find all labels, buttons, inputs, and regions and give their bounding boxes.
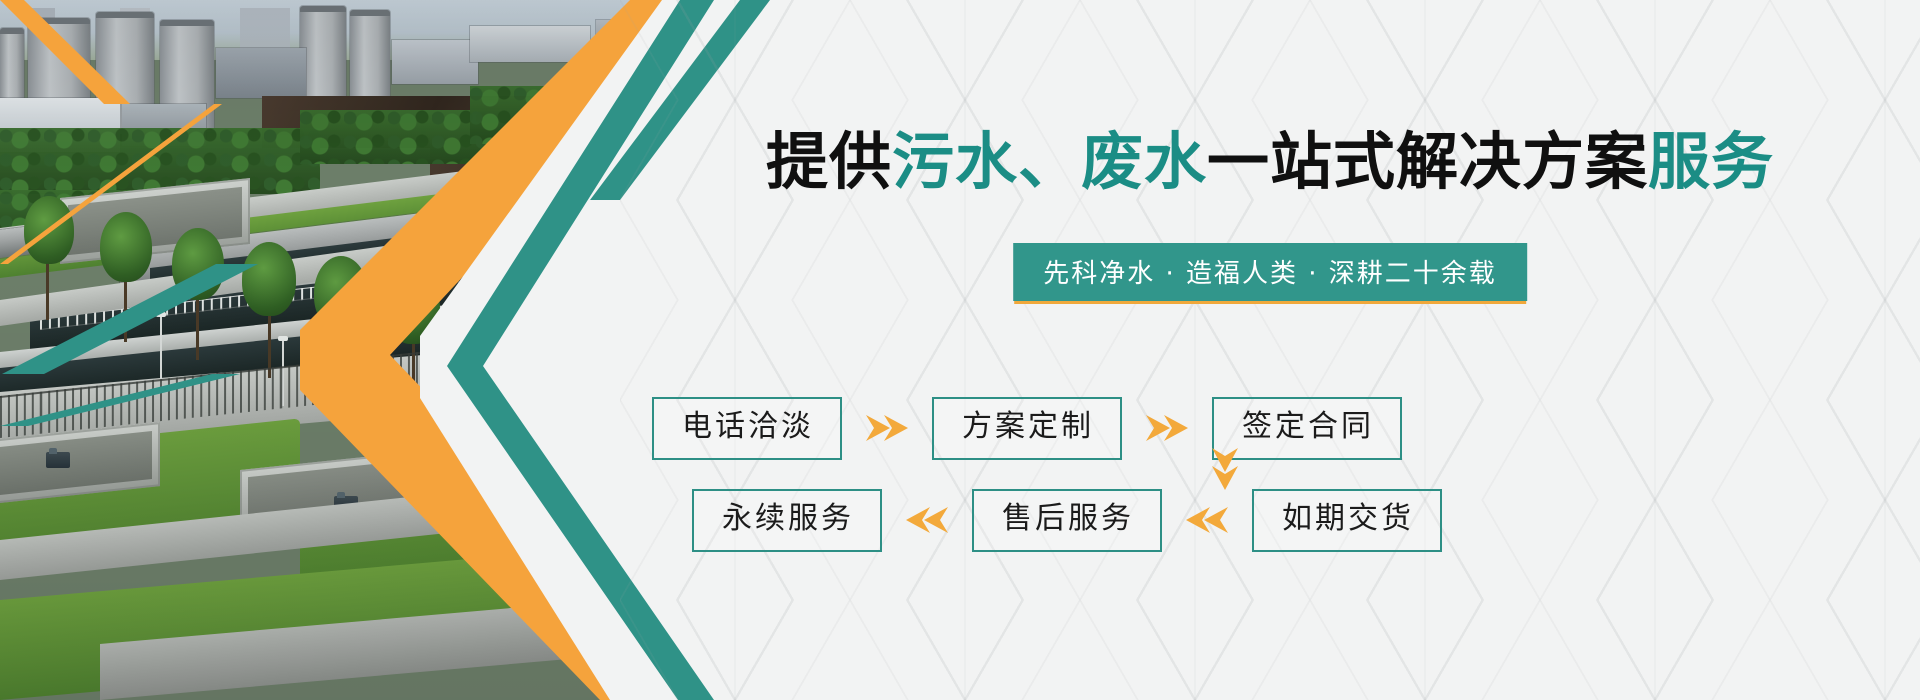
process-step-continuous-service[interactable]: 永续服务 — [692, 489, 882, 552]
process-step-on-time-delivery[interactable]: 如期交货 — [1252, 489, 1442, 552]
arrow-left-icon — [904, 503, 950, 537]
headline-segment-3: 一站式解决方案 — [1207, 125, 1648, 198]
photo-building — [216, 48, 306, 98]
arrow-right-icon — [1144, 411, 1190, 445]
banner-content: 提供污水、废水一站式解决方案服务 先科净水 · 造福人类 · 深耕二十余载 电话… — [620, 0, 1920, 700]
banner-subtitle-ribbon: 先科净水 · 造福人类 · 深耕二十余载 — [1013, 243, 1527, 301]
process-step-plan-customization[interactable]: 方案定制 — [932, 397, 1122, 460]
process-step-after-sales-service[interactable]: 售后服务 — [972, 489, 1162, 552]
arrow-down-icon — [1208, 446, 1242, 492]
photo-tree-belt — [0, 128, 320, 194]
arrow-right-icon — [864, 411, 910, 445]
process-flow-row-top: 电话洽淡 方案定制 签定合同 — [652, 397, 1402, 460]
promo-banner: 提供污水、废水一站式解决方案服务 先科净水 · 造福人类 · 深耕二十余载 电话… — [0, 0, 1920, 700]
photo-building — [470, 26, 590, 62]
photo-tree-crown — [100, 212, 152, 282]
arrow-left-icon — [1184, 503, 1230, 537]
photo-pump — [46, 452, 70, 468]
headline-segment-4: 服务 — [1648, 125, 1774, 198]
photo-silo — [350, 10, 390, 98]
photo-lamp-post — [160, 316, 162, 388]
headline-segment-1: 提供 — [766, 125, 892, 198]
photo-building — [392, 40, 478, 84]
process-flow-row-bottom: 永续服务 售后服务 如期交货 — [692, 489, 1442, 552]
headline-segment-2: 污水、废水 — [892, 125, 1207, 198]
banner-headline: 提供污水、废水一站式解决方案服务 — [620, 131, 1920, 193]
photo-silo — [300, 6, 346, 102]
process-step-phone-consult[interactable]: 电话洽淡 — [652, 397, 842, 460]
photo-tree-crown — [242, 242, 296, 316]
